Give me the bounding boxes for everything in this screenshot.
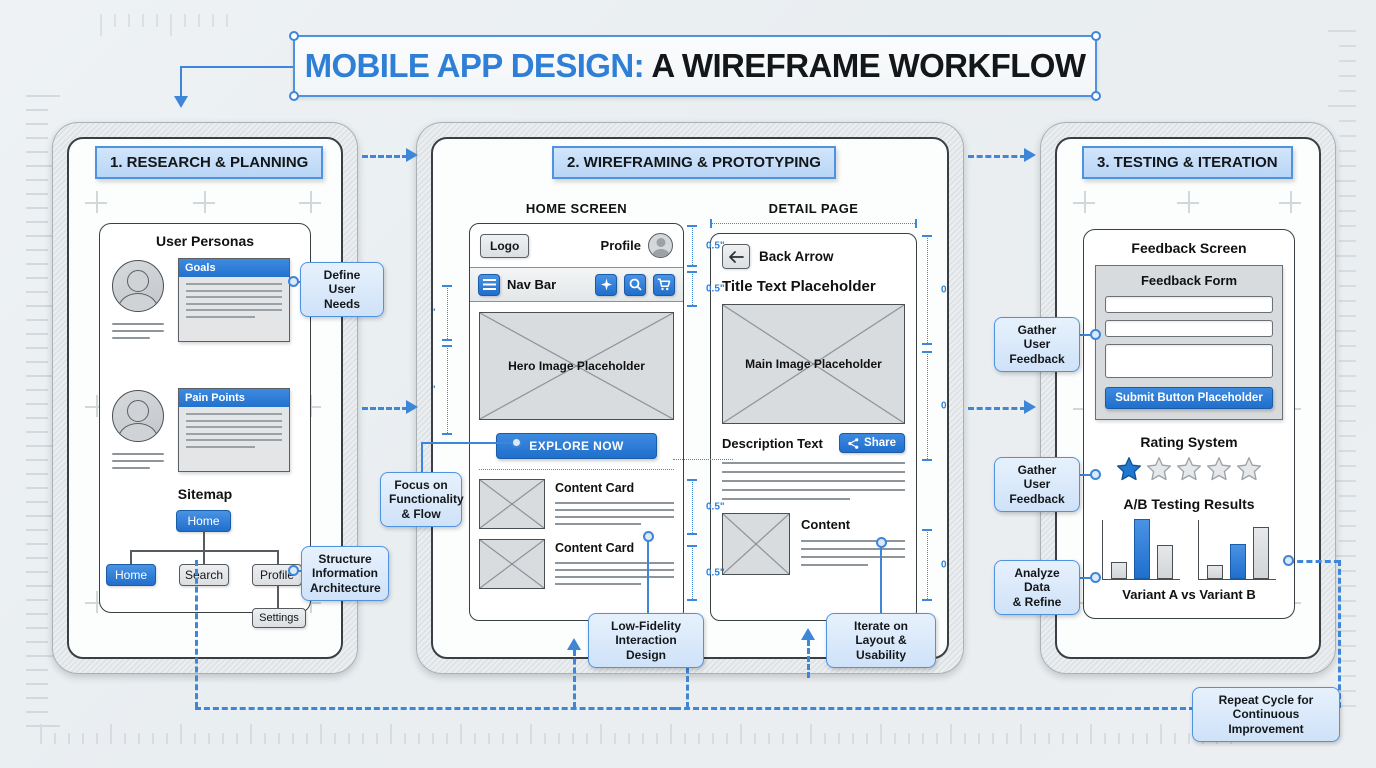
hero-image-placeholder: Hero Image Placeholder	[479, 312, 674, 420]
avatar	[112, 260, 164, 312]
callout-define-user-needs[interactable]: Define User Needs	[300, 262, 384, 317]
callout-gather-feedback-2[interactable]: Gather User Feedback	[994, 457, 1080, 512]
feedback-screen-card: Feedback Screen Feedback Form Submit But…	[1083, 229, 1295, 619]
flow-1-2-top-arrow	[406, 148, 418, 162]
persona-pain-points-card: Pain Points	[178, 388, 290, 472]
page-title: MOBILE APP DESIGN: A WIREFRAME WORKFLOW	[293, 35, 1097, 97]
content-card-2-title: Content Card	[555, 541, 674, 555]
loop-up-panel2-left	[573, 650, 576, 708]
callout-iterate-layout[interactable]: Iterate on Layout & Usability	[826, 613, 936, 668]
persona-1	[112, 260, 164, 339]
star-icon-empty[interactable]	[1236, 456, 1262, 482]
ruler-left	[0, 0, 58, 768]
star-icon-empty[interactable]	[1176, 456, 1202, 482]
title-leader-v	[180, 66, 182, 98]
title-leader-h	[180, 66, 293, 68]
loop-bottom-right	[675, 707, 1195, 710]
content-card-1-title: Content Card	[555, 481, 674, 495]
callout-low-fidelity[interactable]: Low-Fidelity Interaction Design	[588, 613, 704, 668]
share-label: Share	[864, 437, 896, 449]
star-icon-filled[interactable]	[1116, 456, 1142, 482]
feedback-form: Feedback Form Submit Button Placeholder	[1095, 265, 1283, 420]
cta-dotted-link	[673, 459, 733, 460]
detail-page-wireframe: Back Arrow Title Text Placeholder Main I…	[710, 233, 917, 621]
rating-stars[interactable]	[1084, 456, 1294, 482]
page-title-accent: MOBILE APP DESIGN:	[305, 47, 644, 84]
feedback-field-2[interactable]	[1105, 320, 1273, 337]
detail-title-placeholder: Title Text Placeholder	[711, 269, 916, 295]
callout-gather-feedback-2-anchor[interactable]	[1090, 469, 1101, 480]
loop-right-horiz	[1288, 560, 1340, 563]
ab-testing-caption: Variant A vs Variant B	[1084, 587, 1294, 602]
search-icon[interactable]	[624, 274, 646, 296]
callout-focus-functionality-anchor[interactable]	[511, 437, 522, 448]
flow-2-3-mid	[968, 407, 1026, 410]
callout-analyze-data[interactable]: Analyze Data & Refine	[994, 560, 1080, 615]
sitemap-node-search[interactable]: Search	[179, 564, 229, 586]
sitemap-node-root[interactable]: Home	[176, 510, 231, 532]
callout-analyze-data-anchor[interactable]	[1090, 572, 1101, 583]
content-card-2[interactable]: Content Card	[479, 539, 674, 589]
rating-system-heading: Rating System	[1084, 434, 1294, 450]
detail-page-label: DETAIL PAGE	[710, 201, 917, 216]
feedback-screen-heading: Feedback Screen	[1084, 240, 1294, 256]
loop-bottom-left	[195, 707, 675, 710]
callout-structure-ia[interactable]: Structure Information Architecture	[301, 546, 389, 601]
user-personas-heading: User Personas	[100, 233, 310, 249]
user-personas-card: User Personas Goals	[99, 223, 311, 613]
home-screen-label: HOME SCREEN	[469, 201, 684, 216]
submit-button[interactable]: Submit Button Placeholder	[1105, 387, 1273, 409]
star-icon-empty[interactable]	[1146, 456, 1172, 482]
hero-image-label: Hero Image Placeholder	[480, 313, 673, 419]
selection-handle-br[interactable]	[1091, 91, 1101, 101]
callout-repeat-cycle-anchor[interactable]	[1283, 555, 1294, 566]
selection-handle-tl[interactable]	[289, 31, 299, 41]
selection-handle-tr[interactable]	[1091, 31, 1101, 41]
panel-title-wireframing: 2. WIREFRAMING & PROTOTYPING	[552, 146, 836, 179]
panel-wireframing-screen: HOME SCREEN Logo Profile Nav Bar	[431, 137, 949, 659]
cart-icon[interactable]	[653, 274, 675, 296]
callout-define-user-needs-anchor[interactable]	[288, 276, 299, 287]
callout-repeat-cycle[interactable]: Repeat Cycle for Continuous Improvement	[1192, 687, 1340, 742]
loop-up-detail-arrow	[801, 628, 815, 640]
flow-2-3-mid-arrow	[1024, 400, 1036, 414]
star-icon-empty[interactable]	[1206, 456, 1232, 482]
flow-1-2-mid-arrow	[406, 400, 418, 414]
chart-group-b	[1198, 520, 1276, 580]
loop-up-detail	[807, 640, 810, 678]
callout-focus-functionality[interactable]: Focus on Functionality & Flow	[380, 472, 462, 527]
description-text-label: Description Text	[722, 436, 823, 451]
back-arrow-label: Back Arrow	[759, 249, 834, 264]
callout-gather-feedback-1-anchor[interactable]	[1090, 329, 1101, 340]
sitemap-node-settings[interactable]: Settings	[252, 608, 306, 628]
chart-group-a	[1102, 520, 1180, 580]
detail-content-title: Content	[801, 517, 905, 532]
page-title-main: A WIREFRAME WORKFLOW	[644, 47, 1085, 84]
persona-goals-header: Goals	[179, 259, 289, 277]
hamburger-icon[interactable]	[478, 274, 500, 296]
ruler-bottom	[0, 714, 1376, 748]
detail-page-width-dim	[710, 223, 917, 224]
loop-left-vert	[195, 560, 198, 708]
flow-1-2-mid	[362, 407, 408, 410]
loop-up-panel2-left-arrow	[567, 638, 581, 650]
flow-1-2-top	[362, 155, 408, 158]
persona-2	[112, 390, 164, 469]
main-image-label: Main Image Placeholder	[723, 305, 904, 423]
sitemap-node-home[interactable]: Home	[106, 564, 156, 586]
share-button[interactable]: Share	[839, 433, 905, 453]
ab-testing-chart	[1102, 520, 1276, 580]
panel-title-testing: 3. TESTING & ITERATION	[1082, 146, 1293, 179]
logo-button[interactable]: Logo	[480, 234, 529, 258]
persona-pain-points-header: Pain Points	[179, 389, 289, 407]
loop-right-vert	[1338, 560, 1341, 708]
panel-testing-device: Feedback Screen Feedback Form Submit But…	[1040, 122, 1336, 674]
share-icon	[848, 438, 859, 449]
sitemap-heading: Sitemap	[100, 486, 310, 502]
callout-iterate-layout-anchor[interactable]	[876, 537, 887, 548]
avatar	[112, 390, 164, 442]
panel-title-research: 1. RESEARCH & PLANNING	[95, 146, 323, 179]
ab-testing-heading: A/B Testing Results	[1084, 496, 1294, 512]
flow-2-3-top	[968, 155, 1026, 158]
profile-avatar-icon[interactable]	[648, 233, 673, 258]
navbar-label: Nav Bar	[507, 277, 588, 292]
sparkle-icon[interactable]	[595, 274, 617, 296]
callout-gather-feedback-1[interactable]: Gather User Feedback	[994, 317, 1080, 372]
callout-structure-ia-anchor[interactable]	[288, 565, 299, 576]
feedback-field-1[interactable]	[1105, 296, 1273, 313]
main-image-placeholder: Main Image Placeholder	[722, 304, 905, 424]
back-arrow-icon[interactable]	[722, 244, 750, 269]
callout-low-fidelity-anchor[interactable]	[643, 531, 654, 542]
selection-handle-bl[interactable]	[289, 91, 299, 101]
profile-label: Profile	[601, 238, 641, 253]
content-card-1[interactable]: Content Card	[479, 479, 674, 529]
home-screen-wireframe: Logo Profile Nav Bar	[469, 223, 684, 621]
feedback-form-heading: Feedback Form	[1105, 273, 1273, 288]
flow-2-3-top-arrow	[1024, 148, 1036, 162]
persona-goals-card: Goals	[178, 258, 290, 342]
ruler-top	[100, 14, 300, 40]
feedback-field-3[interactable]	[1105, 344, 1273, 378]
